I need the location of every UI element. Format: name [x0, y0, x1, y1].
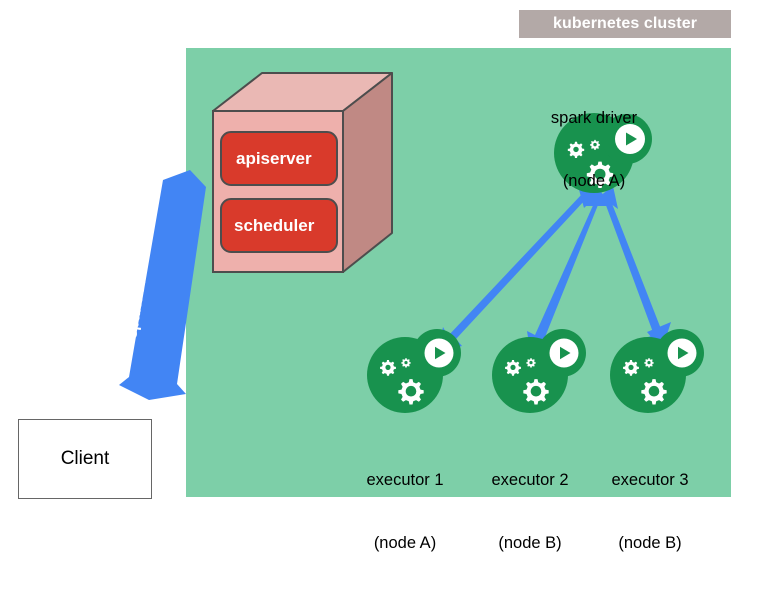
- executor-3-title: executor 3: [580, 470, 720, 491]
- executor-3-label: executor 3 (node B): [580, 428, 720, 596]
- apiserver-label: apiserver: [236, 149, 312, 169]
- executor-1-title: executor 1: [335, 470, 475, 491]
- executor-1-subtitle: (node A): [335, 533, 475, 554]
- client-box[interactable]: Client: [18, 419, 152, 499]
- executor-2-label: executor 2 (node B): [460, 428, 600, 596]
- spark-driver-subtitle: (node A): [524, 171, 664, 192]
- kubernetes-cluster-tag-label: kubernetes cluster: [553, 15, 697, 33]
- executor-3-subtitle: (node B): [580, 533, 720, 554]
- client-box-label: Client: [61, 448, 110, 470]
- scheduler-label: scheduler: [234, 216, 314, 236]
- spark-driver-label: spark driver (node A): [524, 66, 664, 234]
- spark-driver-title: spark driver: [524, 108, 664, 129]
- diagram-canvas: kubernetes cluster Client: [0, 0, 761, 516]
- spark-submit-label: spark-submit: [123, 244, 155, 340]
- executor-2-title: executor 2: [460, 470, 600, 491]
- executor-2-subtitle: (node B): [460, 533, 600, 554]
- executor-1-label: executor 1 (node A): [335, 428, 475, 596]
- kubernetes-cluster-tag: kubernetes cluster: [519, 10, 731, 38]
